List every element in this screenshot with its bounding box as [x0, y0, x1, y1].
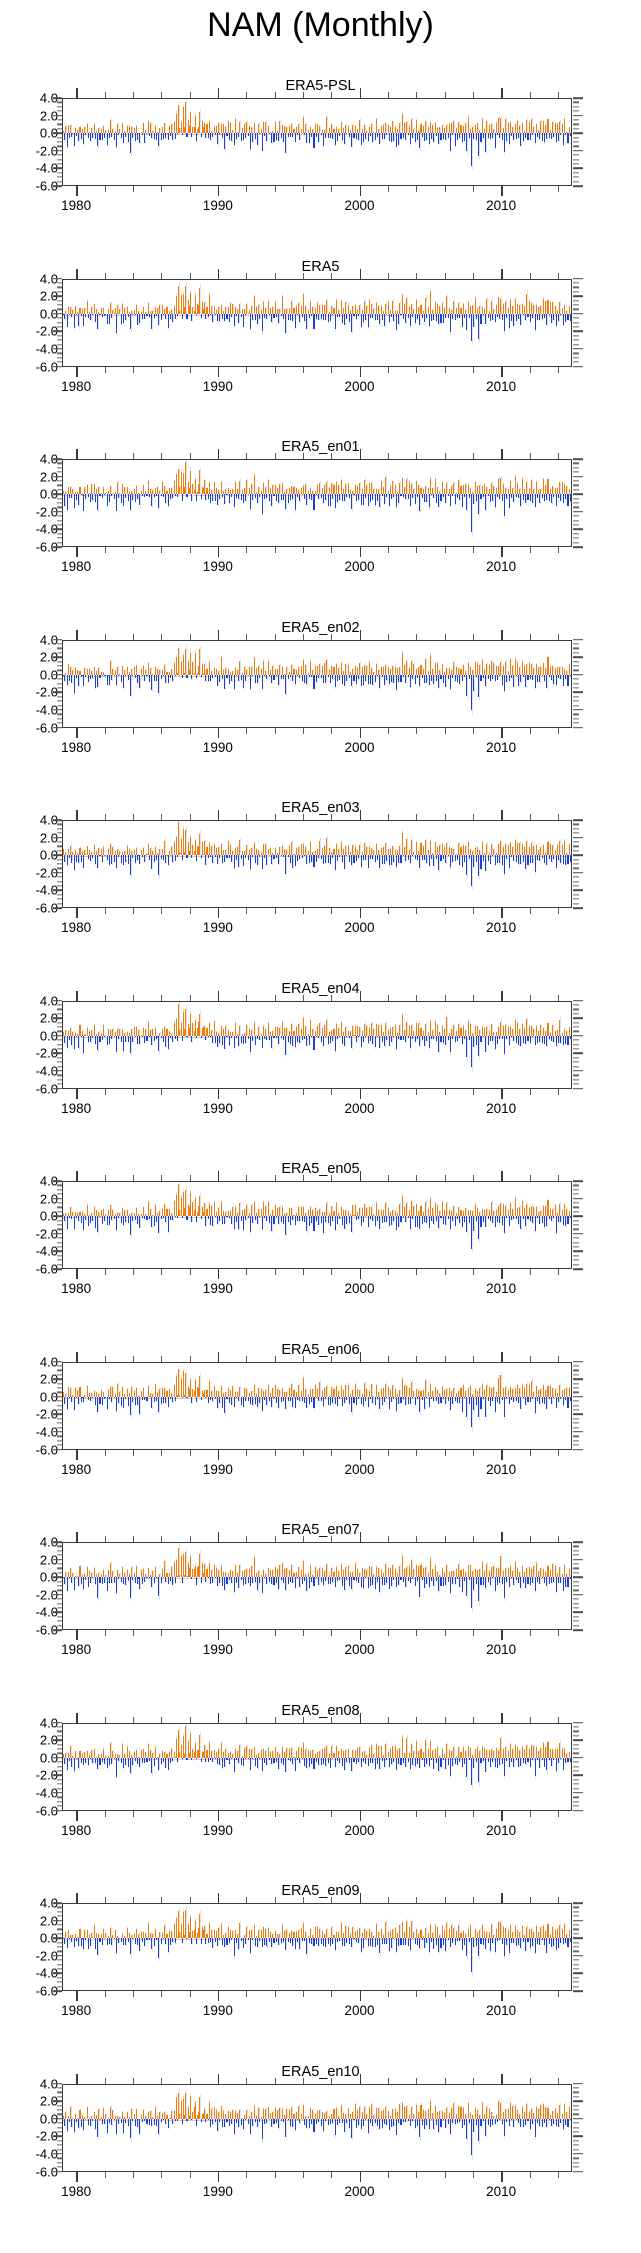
bar-negative — [523, 855, 524, 861]
bar-negative — [408, 855, 409, 859]
bar-positive — [282, 483, 283, 495]
bar-negative — [281, 133, 282, 138]
bar-negative — [224, 855, 225, 861]
x-minor-tick — [161, 186, 162, 192]
bar-negative — [158, 675, 159, 693]
bar-negative — [403, 494, 404, 497]
bar-positive — [383, 847, 384, 855]
bar-negative — [459, 133, 460, 138]
bar-positive — [68, 307, 69, 314]
bar-negative — [276, 855, 277, 858]
bar-negative — [502, 855, 503, 864]
bar-positive — [223, 124, 224, 133]
bar-positive — [209, 843, 210, 856]
bar-negative — [168, 675, 169, 683]
bar-negative — [328, 314, 329, 322]
bar-positive — [376, 664, 377, 675]
bar-negative — [417, 133, 418, 139]
y-major-tick-right — [573, 97, 583, 99]
bar-negative — [391, 314, 392, 317]
bar-negative — [535, 314, 536, 330]
bar-positive — [336, 664, 337, 675]
bar-positive — [465, 846, 466, 855]
bar-negative — [542, 855, 543, 858]
bar-negative — [236, 494, 237, 498]
bar-negative — [128, 133, 129, 142]
y-minor-tick-right — [573, 841, 579, 842]
bar-positive — [70, 307, 71, 314]
bar-negative — [186, 133, 187, 137]
bar-positive — [371, 124, 372, 134]
bar-negative — [67, 855, 68, 865]
bar-negative — [389, 855, 390, 865]
y-major-tick — [53, 511, 62, 513]
bar-negative — [224, 314, 225, 321]
bar-positive — [385, 477, 386, 494]
bar-negative — [527, 314, 528, 317]
bar-positive — [515, 124, 516, 133]
x-major-tick — [218, 908, 220, 918]
bar-negative — [67, 494, 68, 509]
bar-negative — [130, 494, 131, 509]
bar-positive — [381, 306, 382, 314]
x-axis-ticks-bot — [62, 908, 572, 918]
x-minor-tick — [388, 547, 389, 553]
bar-positive — [68, 849, 69, 856]
bar-negative — [346, 314, 347, 319]
bar-negative — [128, 314, 129, 317]
bar-negative — [107, 314, 108, 324]
bar-negative — [396, 494, 397, 507]
bar-negative — [245, 675, 246, 681]
bar-negative — [368, 314, 369, 327]
bar-positive — [171, 847, 172, 856]
bar-negative — [276, 314, 277, 317]
x-minor-tick — [530, 453, 531, 459]
y-minor-tick-right — [573, 1039, 579, 1040]
bar-negative — [165, 133, 166, 137]
bar-negative — [255, 314, 256, 320]
bar-negative — [553, 133, 554, 136]
x-minor-tick — [416, 908, 417, 914]
bar-positive — [206, 847, 207, 856]
bar-positive — [265, 844, 266, 856]
bar-negative — [377, 855, 378, 860]
bar-negative — [273, 314, 274, 318]
bar-negative — [330, 314, 331, 321]
bar-negative — [567, 675, 568, 686]
x-major-tick — [76, 810, 78, 820]
bar-positive — [371, 848, 372, 855]
bar-negative — [144, 314, 145, 319]
bar-positive — [545, 125, 546, 134]
bar-positive — [317, 303, 318, 314]
bar-negative — [328, 675, 329, 677]
bar-negative — [231, 855, 232, 862]
bar-negative — [476, 855, 477, 861]
x-minor-tick — [133, 92, 134, 98]
bar-negative — [175, 855, 176, 860]
bar-negative — [114, 133, 115, 140]
bar-positive — [477, 847, 478, 855]
bar-negative — [285, 675, 286, 694]
bar-negative — [90, 314, 91, 320]
bar-positive — [388, 667, 389, 674]
bar-negative — [97, 494, 98, 509]
bar-positive — [392, 666, 393, 675]
bar-positive — [456, 667, 457, 675]
bar-negative — [158, 494, 159, 508]
x-axis-ticks-top — [62, 449, 572, 459]
bar-positive — [399, 846, 400, 856]
bar-positive — [498, 297, 499, 313]
y-major-tick-right — [573, 511, 583, 513]
bar-positive — [557, 845, 558, 856]
y-minor-tick-right — [573, 102, 579, 103]
bar-negative — [393, 314, 394, 321]
bar-negative — [90, 855, 91, 861]
bar-positive — [303, 294, 304, 314]
bar-negative — [92, 855, 93, 858]
bar-positive — [286, 667, 287, 675]
bar-negative — [238, 314, 239, 323]
bar-negative — [551, 494, 552, 502]
x-minor-tick — [388, 453, 389, 459]
bar-positive — [289, 846, 290, 856]
x-tick-label: 2000 — [344, 379, 374, 394]
y-minor-tick-right — [573, 661, 579, 662]
bar-positive — [491, 124, 492, 133]
bar-positive — [491, 301, 492, 314]
bar-positive — [190, 837, 191, 855]
bar-positive — [178, 822, 179, 855]
y-major-tick — [53, 1035, 62, 1037]
x-tick-label: 1990 — [203, 920, 233, 935]
bar-negative — [403, 675, 404, 677]
bar-negative — [182, 855, 183, 859]
bar-positive — [176, 474, 177, 495]
bar-negative — [208, 855, 209, 858]
plot-area — [62, 279, 572, 367]
bar-positive — [157, 487, 158, 494]
bar-negative — [431, 133, 432, 139]
bar-negative — [450, 314, 451, 333]
bar-positive — [498, 479, 499, 494]
bar-negative — [492, 133, 493, 138]
bar-negative — [391, 855, 392, 864]
bar-positive — [143, 307, 144, 314]
bar-negative — [450, 133, 451, 150]
bar-negative — [281, 494, 282, 500]
bar-negative — [302, 855, 303, 858]
bar-negative — [186, 314, 187, 319]
bar-positive — [437, 663, 438, 675]
plot-area — [62, 820, 572, 908]
bar-positive — [68, 126, 69, 133]
bar-positive — [364, 665, 365, 675]
bar-positive — [221, 657, 222, 675]
bar-negative — [278, 133, 279, 140]
bar-negative — [473, 133, 474, 139]
bar-positive — [216, 848, 217, 855]
bar-negative — [111, 855, 112, 864]
bar-negative — [469, 855, 470, 859]
x-major-tick — [360, 88, 362, 98]
bar-negative — [488, 855, 489, 861]
bar-negative — [241, 855, 242, 858]
bar-negative — [532, 494, 533, 503]
bar-negative — [78, 855, 79, 863]
bar-negative — [215, 675, 216, 677]
bar-positive — [364, 480, 365, 494]
bar-negative — [509, 133, 510, 144]
bar-negative — [556, 133, 557, 142]
bar-positive — [517, 843, 518, 856]
chart-panel: ERA5-PSL4.02.00.0-2.0-4.0-6.019801990200… — [0, 78, 641, 228]
bar-negative — [417, 314, 418, 319]
bar-positive — [418, 667, 419, 675]
x-minor-tick — [303, 634, 304, 640]
bar-negative — [191, 855, 192, 857]
bar-negative — [560, 675, 561, 679]
bar-negative — [182, 133, 183, 135]
bar-positive — [185, 830, 186, 855]
bar-positive — [127, 846, 128, 856]
bar-negative — [361, 855, 362, 866]
y-minor-tick-right — [573, 520, 579, 521]
x-minor-tick — [445, 186, 446, 192]
bar-negative — [325, 675, 326, 684]
bar-positive — [256, 668, 257, 675]
bar-negative — [424, 855, 425, 859]
bar-negative — [530, 675, 531, 679]
x-minor-tick — [190, 367, 191, 373]
bar-positive — [296, 848, 297, 856]
y-minor-tick-right — [573, 718, 579, 719]
bar-negative — [436, 675, 437, 681]
bar-negative — [306, 855, 307, 863]
bar-negative — [123, 494, 124, 506]
bar-positive — [531, 664, 532, 674]
bar-negative — [546, 494, 547, 500]
bar-negative — [527, 675, 528, 680]
bar-negative — [389, 494, 390, 505]
x-minor-tick — [190, 634, 191, 640]
y-minor-tick-right — [573, 903, 579, 904]
bar-negative — [132, 855, 133, 858]
bar-negative — [245, 314, 246, 315]
bar-positive — [416, 481, 417, 494]
bar-negative — [222, 494, 223, 497]
bar-negative — [396, 855, 397, 867]
bar-negative — [415, 675, 416, 684]
bar-negative — [422, 494, 423, 498]
bar-negative — [509, 675, 510, 681]
bar-positive — [463, 845, 464, 856]
bar-positive — [326, 482, 327, 495]
y-minor-tick-right — [573, 304, 579, 305]
bar-positive — [209, 483, 210, 494]
bar-positive — [110, 120, 111, 133]
y-axis-ticks — [48, 279, 62, 367]
bar-negative — [520, 675, 521, 682]
bar-positive — [326, 117, 327, 133]
bar-negative — [466, 855, 467, 875]
bar-negative — [471, 133, 472, 165]
bar-positive — [345, 125, 346, 134]
bar-negative — [448, 314, 449, 318]
bar-negative — [95, 494, 96, 502]
bar-negative — [74, 675, 75, 693]
bar-negative — [457, 314, 458, 318]
bar-negative — [156, 675, 157, 681]
bar-negative — [196, 133, 197, 140]
bar-negative — [365, 494, 366, 497]
x-minor-tick — [246, 814, 247, 820]
bar-negative — [363, 855, 364, 860]
bar-negative — [525, 675, 526, 687]
bar-negative — [546, 675, 547, 689]
bar-negative — [85, 133, 86, 135]
bar-negative — [462, 675, 463, 681]
bar-positive — [263, 661, 264, 675]
bar-negative — [321, 133, 322, 135]
bar-positive — [148, 121, 149, 133]
bar-negative — [323, 133, 324, 146]
bar-positive — [458, 303, 459, 314]
bar-negative — [196, 675, 197, 678]
y-minor-tick-right — [573, 361, 579, 362]
bar-negative — [368, 675, 369, 684]
bar-positive — [322, 305, 323, 313]
chart-panel: ERA5_en024.02.00.0-2.0-4.0-6.01980199020… — [0, 620, 641, 770]
bar-positive — [536, 124, 537, 133]
bar-negative — [527, 494, 528, 499]
bar-negative — [299, 675, 300, 678]
bar-negative — [382, 855, 383, 863]
y-major-tick — [53, 295, 62, 297]
y-major-tick-right — [573, 674, 583, 676]
bar-negative — [92, 314, 93, 316]
bar-positive — [442, 844, 443, 855]
bar-negative — [457, 133, 458, 139]
bar-negative — [504, 494, 505, 515]
x-tick-label: 1980 — [61, 559, 91, 574]
bar-negative — [64, 314, 65, 319]
y-minor-tick-right — [573, 678, 579, 679]
y-major-tick-right — [573, 458, 583, 460]
bar-negative — [535, 855, 536, 872]
bar-negative — [396, 675, 397, 690]
bar-positive — [420, 665, 421, 675]
bar-positive — [529, 663, 530, 675]
bar-negative — [215, 494, 216, 500]
bar-positive — [143, 666, 144, 675]
bar-negative — [285, 494, 286, 509]
bar-negative — [330, 855, 331, 864]
x-minor-tick — [558, 728, 559, 734]
bar-negative — [558, 494, 559, 497]
bar-positive — [446, 125, 447, 134]
bar-negative — [69, 855, 70, 858]
bar-positive — [569, 664, 570, 675]
bar-positive — [136, 848, 137, 856]
y-major-tick-right — [573, 546, 583, 548]
bar-negative — [408, 494, 409, 498]
bar-positive — [195, 479, 196, 494]
bar-negative — [107, 133, 108, 145]
bar-positive — [319, 664, 320, 675]
x-minor-tick — [388, 273, 389, 279]
bar-negative — [546, 133, 547, 139]
x-minor-tick — [558, 92, 559, 98]
bar-negative — [379, 675, 380, 689]
bar-negative — [363, 675, 364, 686]
x-minor-tick — [105, 728, 106, 734]
bar-negative — [502, 314, 503, 320]
x-major-tick — [76, 547, 78, 557]
bar-positive — [439, 306, 440, 314]
bar-positive — [174, 306, 175, 314]
bar-positive — [449, 124, 450, 134]
bar-positive — [291, 842, 292, 856]
bar-positive — [329, 848, 330, 855]
bar-negative — [161, 314, 162, 320]
bar-negative — [191, 675, 192, 679]
bar-positive — [557, 124, 558, 134]
x-axis-labels: 1980199020002010 — [62, 198, 572, 218]
bar-negative — [450, 494, 451, 506]
bar-negative — [436, 133, 437, 136]
bar-negative — [269, 675, 270, 676]
bar-positive — [84, 487, 85, 494]
bar-negative — [158, 855, 159, 875]
bar-negative — [121, 133, 122, 138]
bar-positive — [239, 840, 240, 855]
bar-positive — [547, 479, 548, 495]
bar-positive — [204, 841, 205, 855]
y-minor-tick-right — [573, 159, 579, 160]
x-axis-ticks-bot — [62, 367, 572, 377]
x-minor-tick — [530, 186, 531, 192]
bar-positive — [258, 487, 259, 495]
bar-positive — [559, 841, 560, 855]
bar-positive — [482, 119, 483, 133]
bar-positive — [341, 301, 342, 314]
x-major-tick — [360, 728, 362, 738]
bar-negative — [480, 855, 481, 869]
bar-positive — [79, 487, 80, 494]
y-minor-tick-right — [573, 899, 579, 900]
bar-negative — [163, 675, 164, 676]
bar-negative — [558, 314, 559, 321]
bar-negative — [111, 675, 112, 680]
bar-negative — [276, 494, 277, 501]
y-major-tick-right — [573, 168, 583, 170]
bar-positive — [442, 664, 443, 675]
bar-positive — [385, 843, 386, 855]
bar-negative — [125, 855, 126, 861]
x-tick-label: 1980 — [61, 920, 91, 935]
bar-negative — [419, 494, 420, 511]
bar-positive — [282, 846, 283, 855]
bar-negative — [426, 133, 427, 139]
bar-negative — [509, 494, 510, 507]
x-minor-tick — [275, 814, 276, 820]
bar-negative — [149, 855, 150, 860]
x-minor-tick — [246, 186, 247, 192]
bar-positive — [564, 841, 565, 856]
